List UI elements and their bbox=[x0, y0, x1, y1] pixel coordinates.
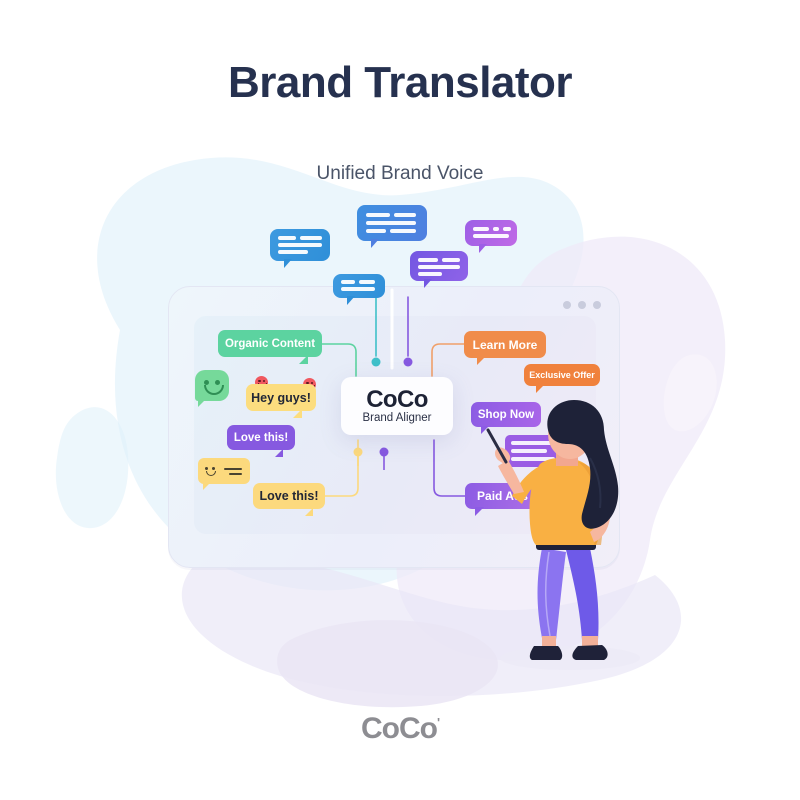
person-shoe-front bbox=[572, 645, 607, 660]
person-ankle-back bbox=[542, 636, 556, 646]
person-leg-back bbox=[538, 548, 567, 640]
center-brand-card[interactable]: CoCo Brand Aligner bbox=[341, 377, 453, 435]
person-forearm bbox=[498, 460, 524, 494]
footer-logo-mark: ' bbox=[437, 715, 439, 730]
footer-logo-text: CoCo bbox=[361, 712, 437, 745]
person-leg-front bbox=[566, 548, 599, 640]
person-shoe-back bbox=[530, 646, 562, 660]
illustration-stage: Brand Translator Unified Brand Voice bbox=[0, 0, 800, 800]
center-brand-tagline: Brand Aligner bbox=[362, 413, 431, 425]
center-brand-name: CoCo bbox=[366, 388, 428, 412]
person-ankle-front bbox=[582, 636, 598, 646]
footer-logo: CoCo' bbox=[0, 712, 800, 746]
woman-with-pen-illustration bbox=[470, 400, 670, 680]
